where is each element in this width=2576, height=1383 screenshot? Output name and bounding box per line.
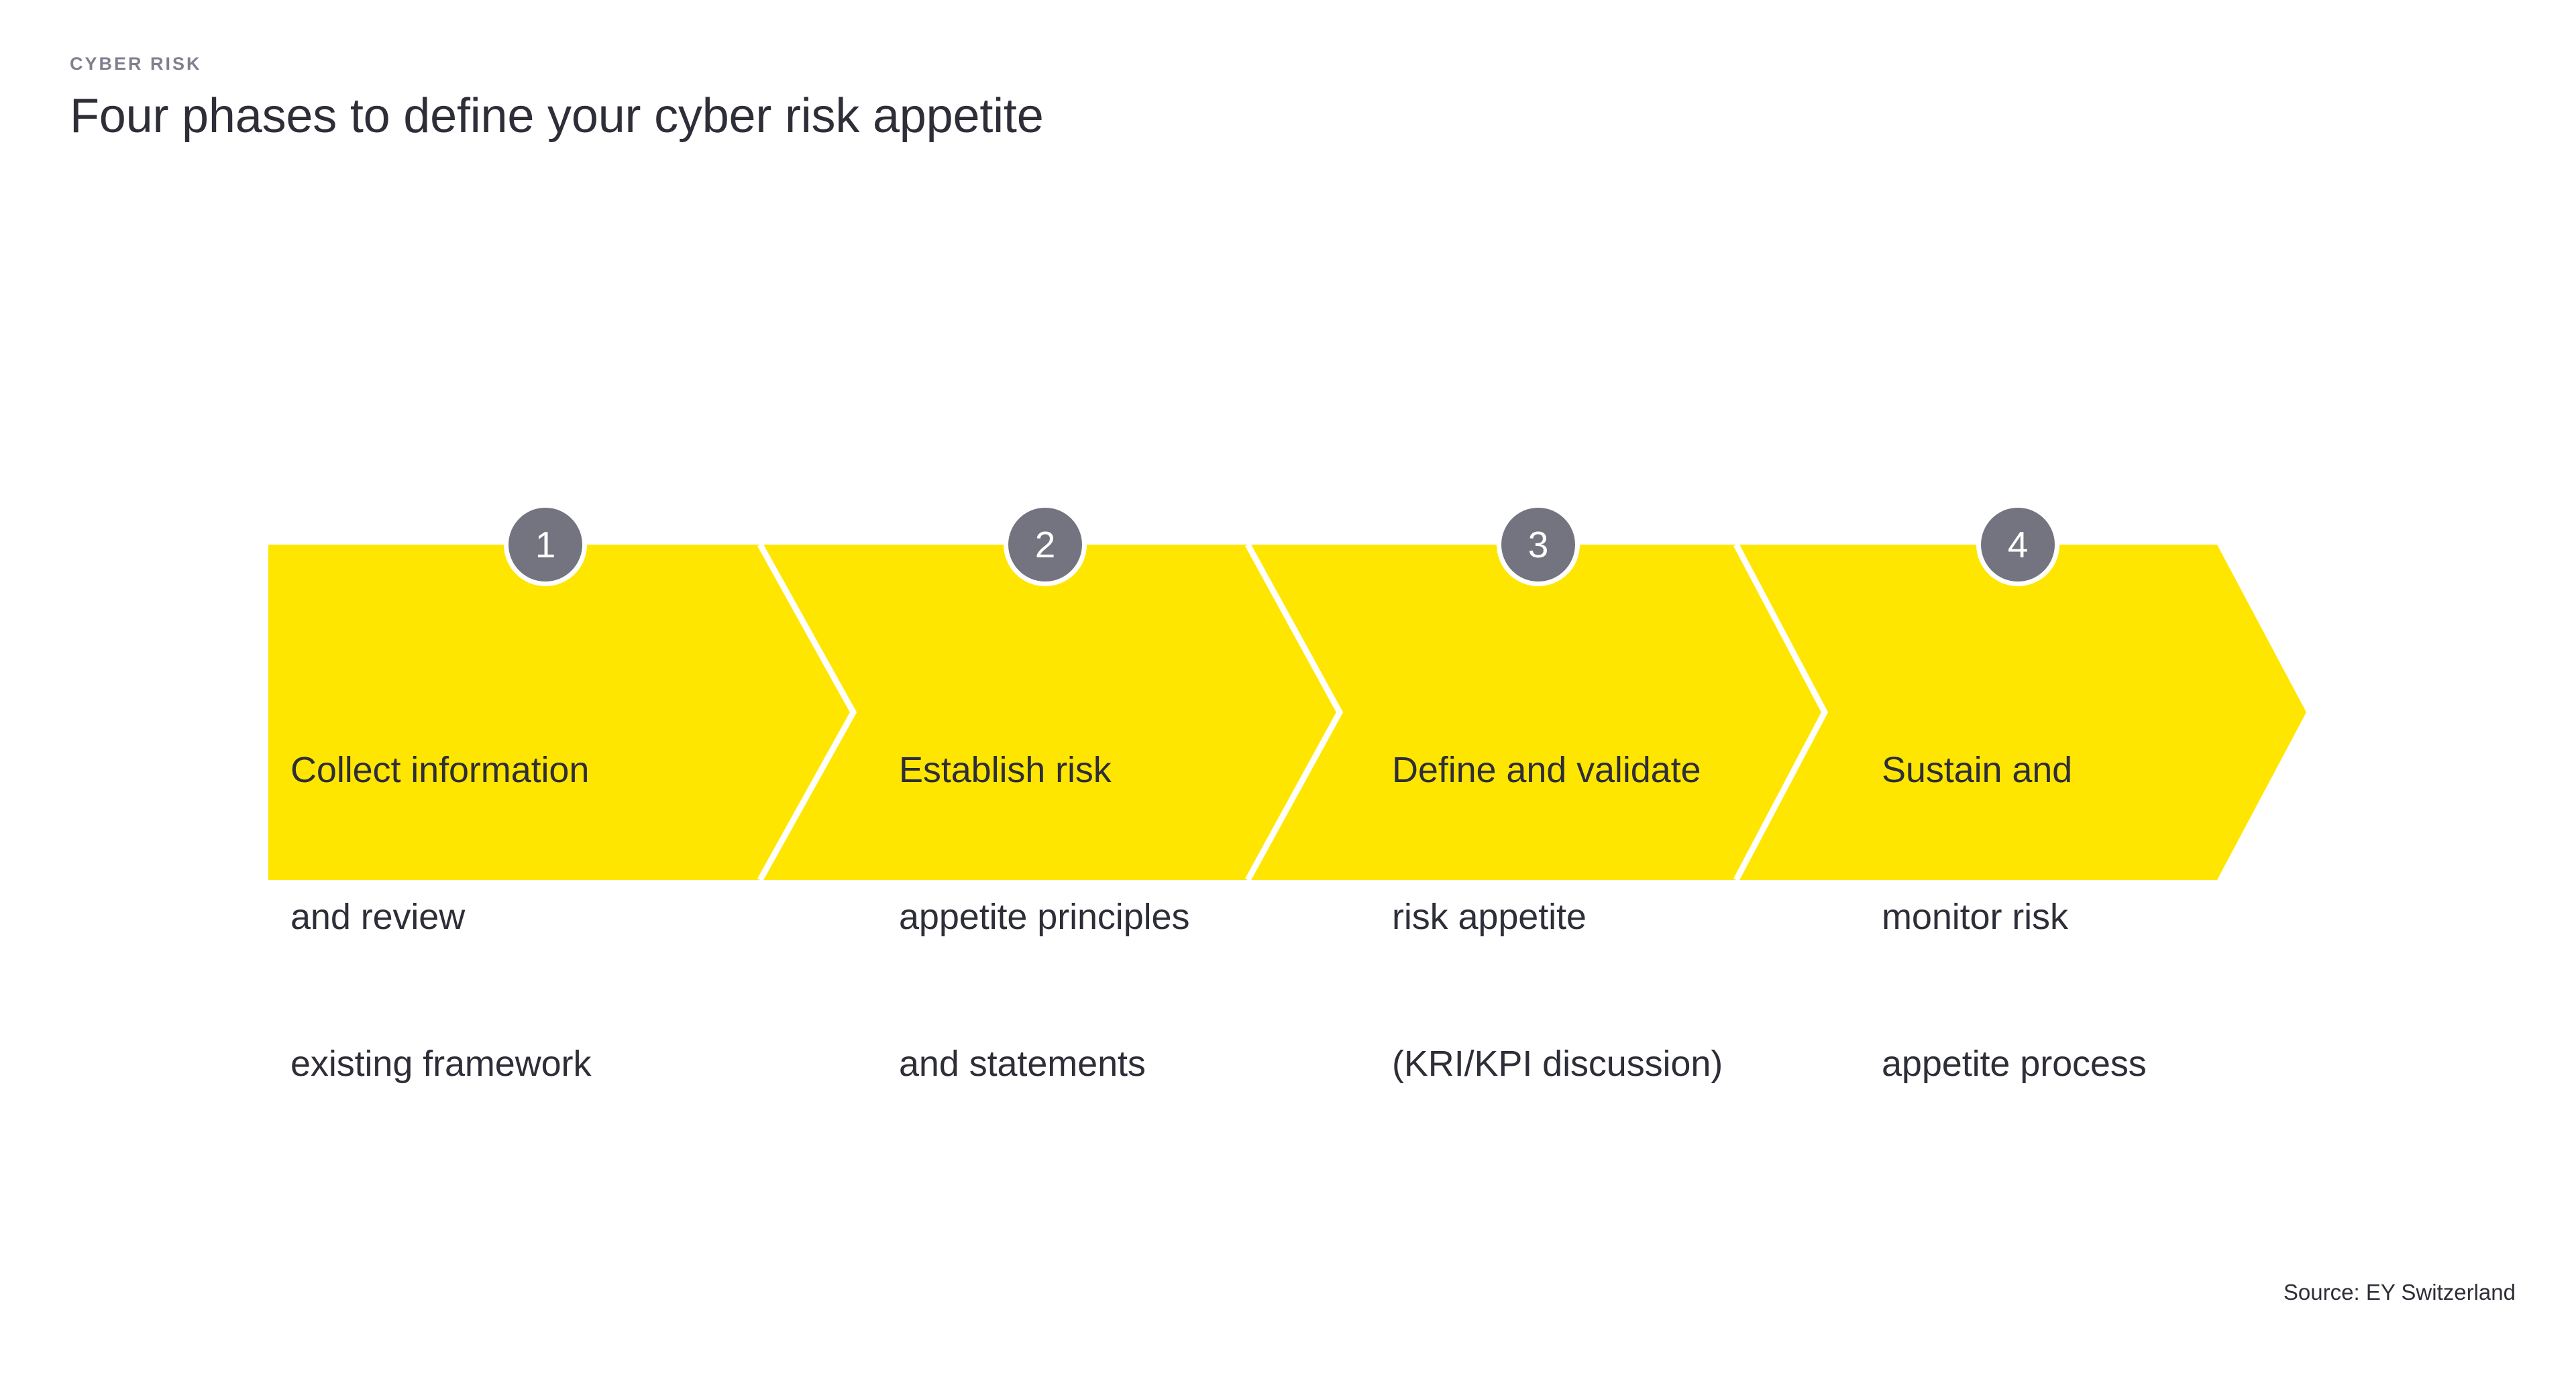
phase-badge-circle: [1981, 508, 2055, 582]
phase-label-line: Collect information: [290, 746, 591, 795]
phase-badge-circle: [1008, 508, 1082, 582]
phase-label-2: Establish risk appetite principles and s…: [899, 648, 1189, 1186]
phase-label-line: and review: [290, 893, 591, 942]
chevron-divider-2: [1248, 545, 1340, 880]
phase-label-line: monitor risk: [1882, 893, 2147, 942]
phase-badge-number: 3: [1528, 524, 1549, 565]
phase-badge-circle: [508, 508, 582, 582]
phase-badge-circle: [1501, 508, 1575, 582]
phase-label-line: existing framework: [290, 1040, 591, 1089]
phase-badge-number: 4: [2008, 524, 2029, 565]
phase-label-line: appetite process: [1882, 1040, 2147, 1089]
phase-label-3: Define and validate risk appetite (KRI/K…: [1392, 648, 1723, 1186]
phase-label-line: (KRI/KPI discussion): [1392, 1040, 1723, 1089]
source-note: Source: EY Switzerland: [2284, 1281, 2516, 1303]
phase-badge-number: 2: [1035, 524, 1056, 565]
phase-label-4: Sustain and monitor risk appetite proces…: [1882, 648, 2147, 1186]
eyebrow-label: CYBER RISK: [70, 55, 2082, 73]
slide-canvas: CYBER RISK Four phases to define your cy…: [0, 0, 2576, 1383]
phase-label-line: risk appetite: [1392, 893, 1723, 942]
phase-badge-number: 1: [535, 524, 556, 565]
phase-label-line: appetite principles: [899, 893, 1189, 942]
phase-label-line: Sustain and: [1882, 746, 2147, 795]
phase-badge-4: 4: [1976, 503, 2059, 586]
phase-label-line: and statements: [899, 1040, 1189, 1089]
phase-badge-2: 2: [1004, 503, 1087, 586]
phase-label-line: Define and validate: [1392, 746, 1723, 795]
phase-label-line: Establish risk: [899, 746, 1189, 795]
phase-badge-3: 3: [1497, 503, 1580, 586]
phase-label-1: Collect information and review existing …: [290, 648, 591, 1186]
phase-badge-1: 1: [504, 503, 587, 586]
slide-header: CYBER RISK Four phases to define your cy…: [70, 55, 2082, 143]
chevron-divider-1: [760, 545, 853, 880]
page-title: Four phases to define your cyber risk ap…: [70, 91, 2082, 143]
chevron-divider-3: [1736, 545, 1825, 880]
